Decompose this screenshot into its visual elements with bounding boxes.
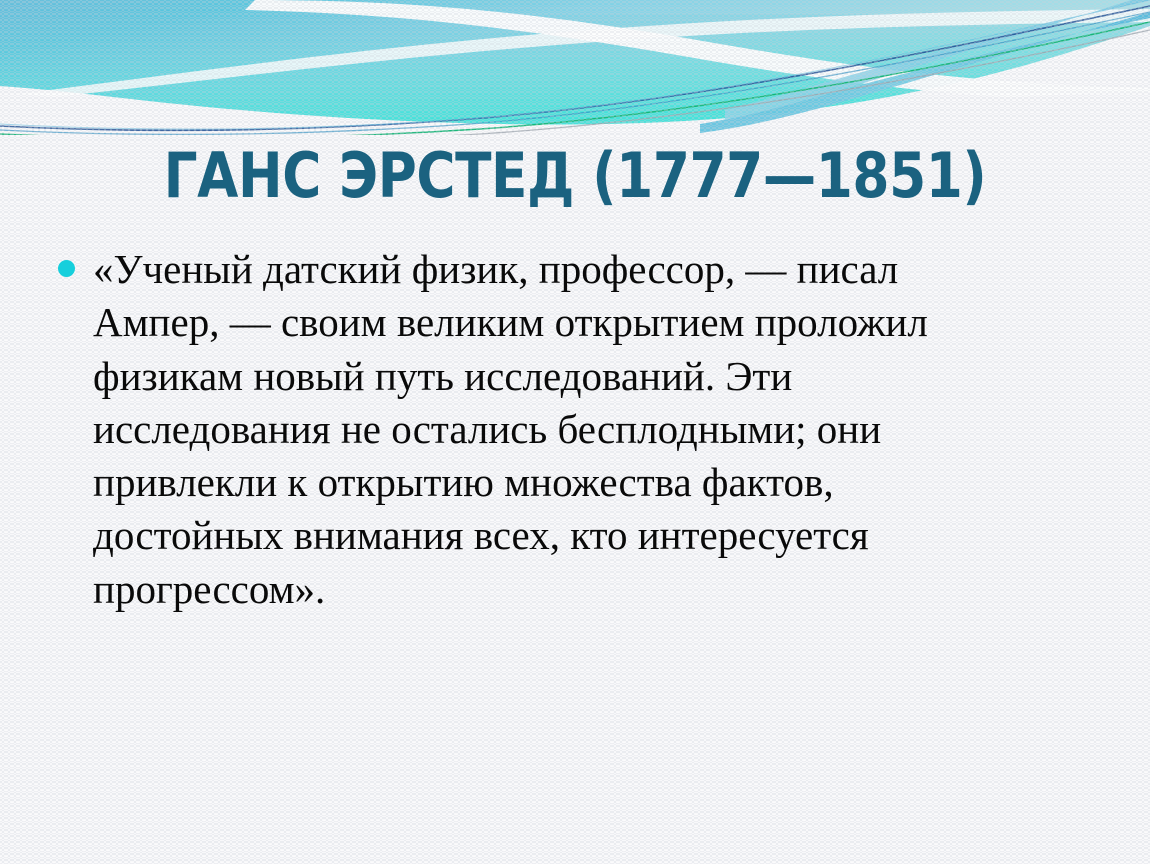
list-item: «Ученый датский физик, профессор, — писа… [58,243,1078,616]
slide-title: ГАНС ЭРСТЕД (1777—1851) [129,143,1022,208]
bullet-dot-icon [58,260,75,277]
bullet-text: «Ученый датский физик, профессор, — писа… [93,243,981,616]
slide-body: «Ученый датский физик, профессор, — писа… [58,243,1078,616]
presentation-slide: ГАНС ЭРСТЕД (1777—1851) «Ученый датский … [0,0,1150,864]
flow-wave-banner [0,0,1150,135]
